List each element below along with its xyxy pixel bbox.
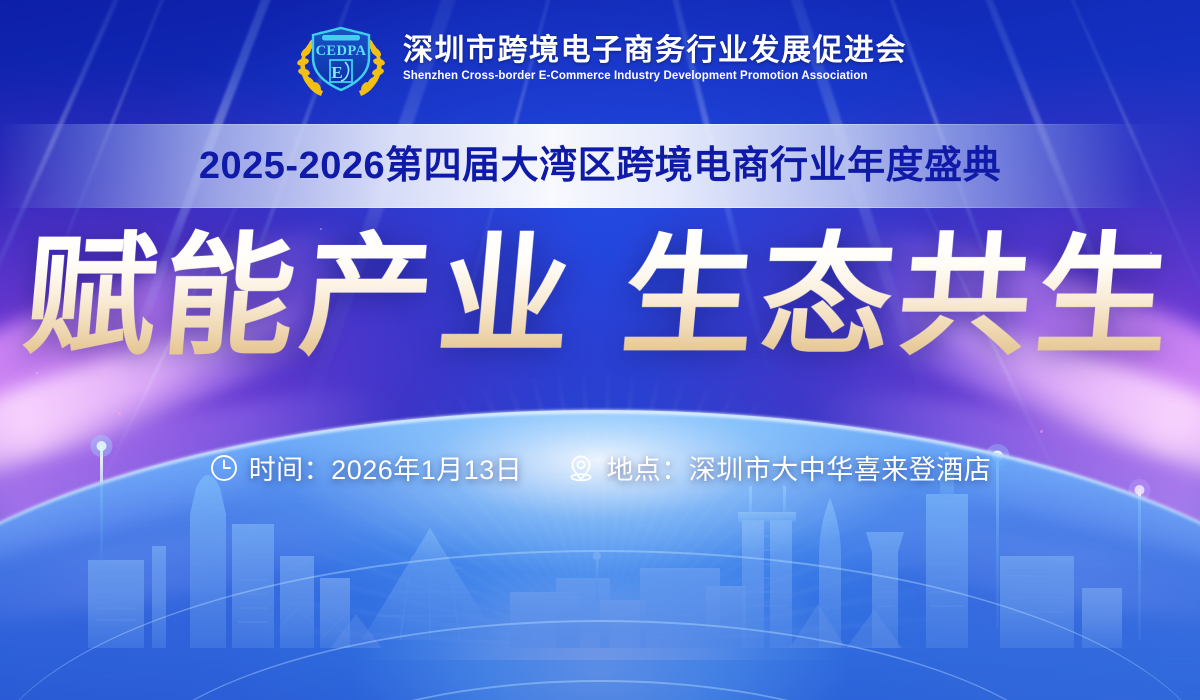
page-title: 2025-2026第四届大湾区跨境电商行业年度盛典 xyxy=(199,147,1001,185)
event-info-row: 时间：2026年1月13日 地点：深圳市大中华喜来登酒店 xyxy=(0,448,1200,487)
event-location: 地点：深圳市大中华喜来登酒店 xyxy=(566,448,991,487)
title-band: 2025-2026第四届大湾区跨境电商行业年度盛典 xyxy=(0,124,1200,208)
svg-text:E: E xyxy=(331,63,342,82)
organization-name-block: 深圳市跨境电子商务行业发展促进会 Shenzhen Cross-border E… xyxy=(403,35,907,83)
event-location-text: 地点：深圳市大中华喜来登酒店 xyxy=(606,448,991,487)
association-header: CEDPA E 深圳市跨境电子商务行业发展促进会 Shenzhen Cross-… xyxy=(0,22,1200,96)
cedpa-shield-laurel-logo: CEDPA E xyxy=(293,22,389,96)
location-pin-icon xyxy=(566,453,596,483)
event-banner: CEDPA E 深圳市跨境电子商务行业发展促进会 Shenzhen Cross-… xyxy=(0,0,1200,700)
org-name-en: Shenzhen Cross-border E-Commerce Industr… xyxy=(403,70,907,83)
org-name-cn: 深圳市跨境电子商务行业发展促进会 xyxy=(403,35,907,67)
clock-icon xyxy=(209,453,239,483)
event-time: 时间：2026年1月13日 xyxy=(209,448,523,487)
shield-text: CEDPA xyxy=(316,43,367,59)
event-time-text: 时间：2026年1月13日 xyxy=(249,448,523,487)
